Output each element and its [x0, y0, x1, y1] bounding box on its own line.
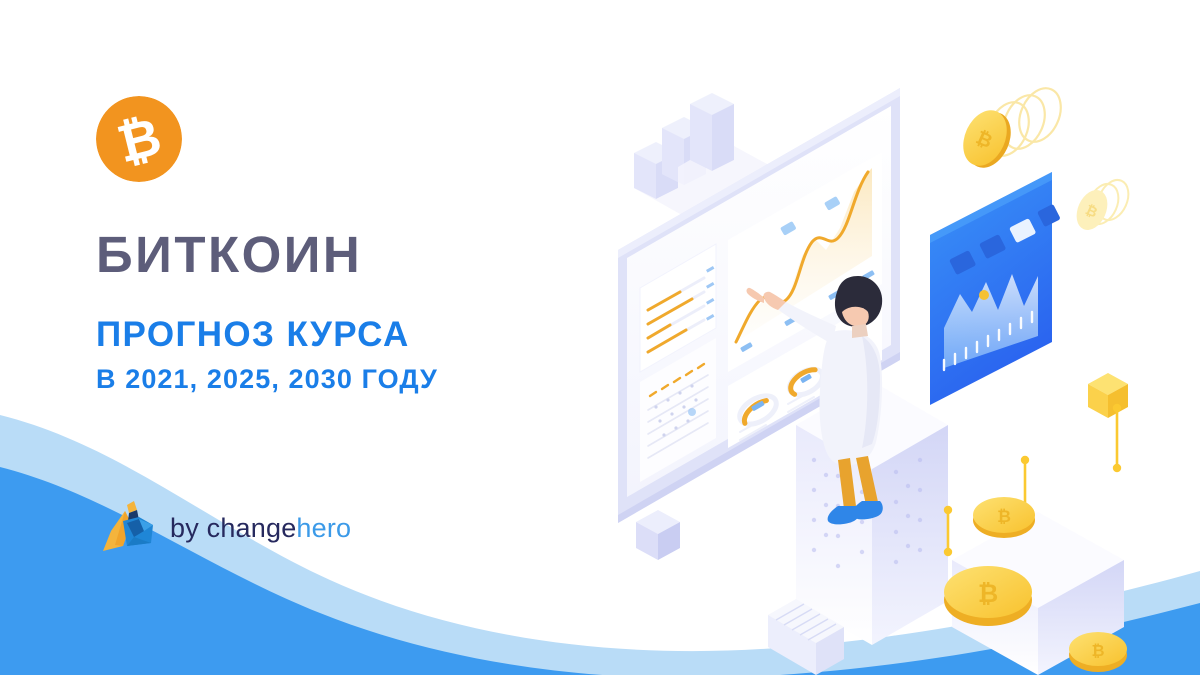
subtitle-line-2: В 2021, 2025, 2030 ГОДУ — [96, 365, 566, 395]
yellow-cube — [1088, 373, 1128, 418]
bitcoin-coin-with-trail: ₿ — [955, 82, 1069, 175]
lavender-cube — [636, 510, 680, 560]
page-title: БИТКОИН — [96, 228, 566, 282]
bitcoin-icon: ₿ — [96, 96, 182, 182]
changehero-hero-mark-icon — [101, 501, 159, 555]
brand-text: by changehero — [170, 513, 351, 544]
isometric-crypto-analytics-illustration: ₿ ₿ — [600, 60, 1200, 675]
headline-block: ₿ БИТКОИН ПРОГНОЗ КУРСА В 2021, 2025, 20… — [96, 96, 566, 395]
bitcoin-coin: ₿ — [944, 566, 1032, 626]
blue-area-chart-card — [930, 172, 1061, 405]
bitcoin-coin-ghost: ₿ — [1071, 175, 1135, 235]
brand-by-label: by — [170, 513, 207, 543]
bitcoin-coin: ₿ — [1069, 632, 1127, 672]
brand-lockup: by changehero — [101, 501, 351, 555]
coin-bitcoin-glyph: ₿ — [1091, 642, 1104, 660]
subtitle-line-1: ПРОГНОЗ КУРСА — [96, 316, 566, 355]
coin-bitcoin-glyph: ₿ — [997, 507, 1011, 526]
coin-bitcoin-glyph: ₿ — [978, 580, 998, 608]
poster-canvas: ₿ БИТКОИН ПРОГНОЗ КУРСА В 2021, 2025, 20… — [0, 0, 1200, 675]
bitcoin-coin: ₿ — [973, 497, 1035, 538]
brand-hero-label: hero — [296, 513, 351, 543]
brand-change-label: change — [207, 513, 297, 543]
